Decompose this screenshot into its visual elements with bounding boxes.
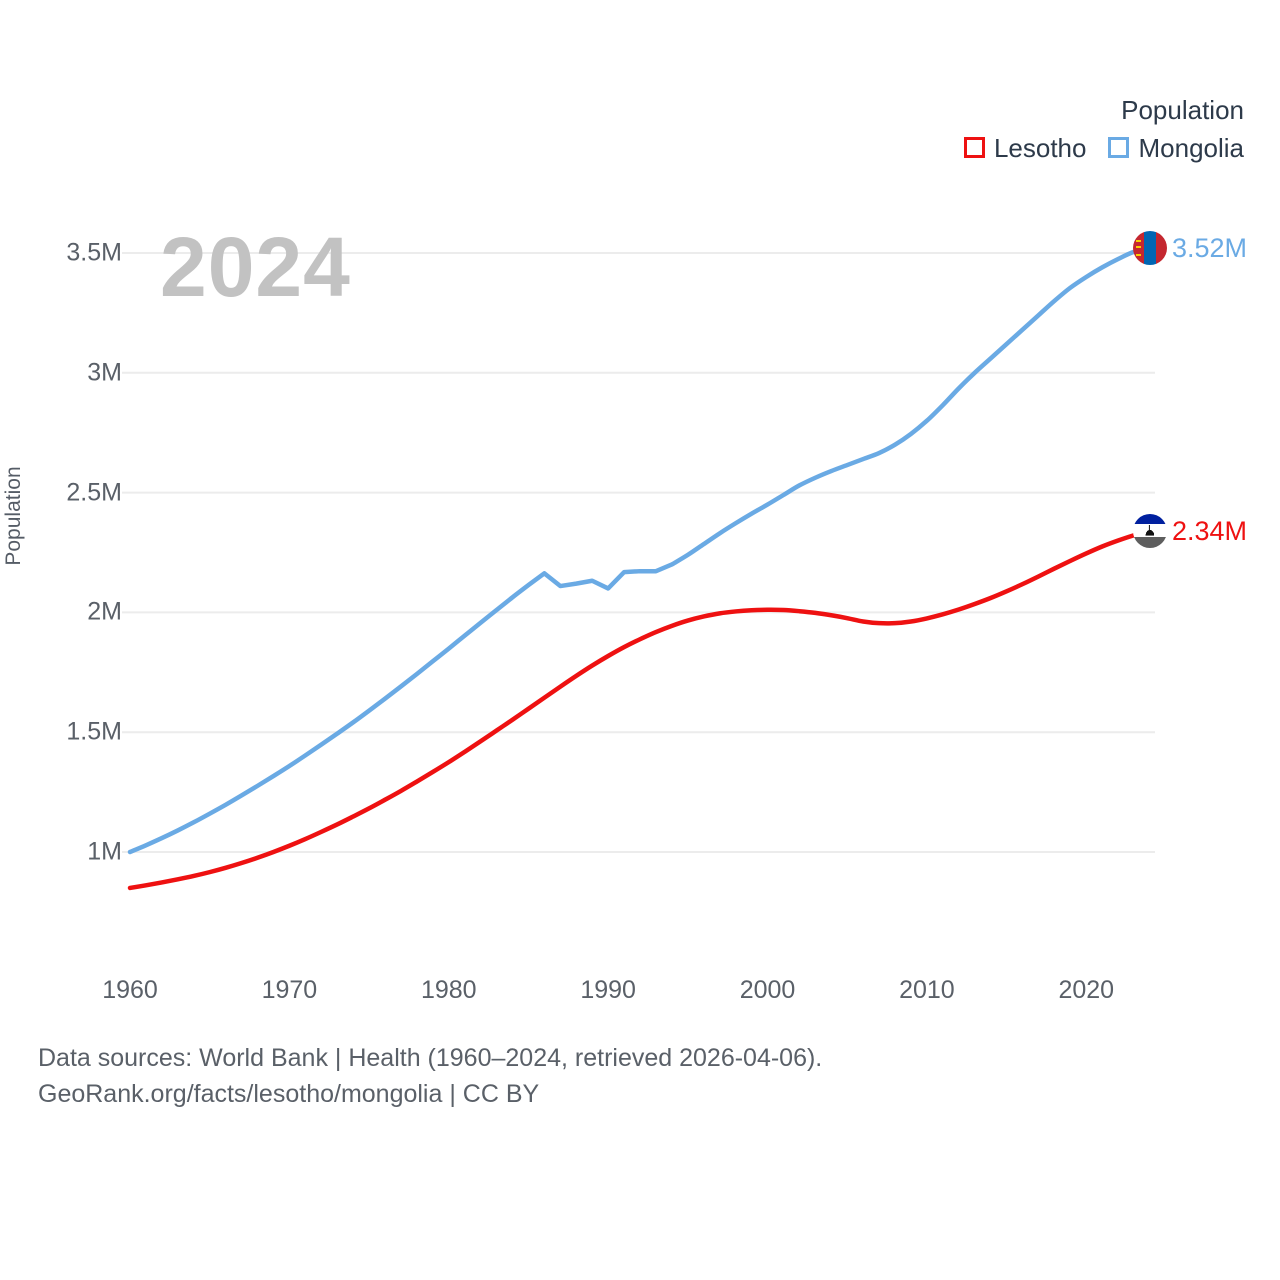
x-axis-tick-label: 1980 [421,976,477,1005]
y-axis-tick-label: 1.5M [66,718,122,747]
plot-canvas [0,0,1280,1030]
series-line-lesotho [130,531,1150,888]
y-axis-tick-label: 2M [87,598,122,627]
chart-footer: Data sources: World Bank | Health (1960–… [38,1040,1218,1113]
x-axis-tick-label: 2000 [740,976,796,1005]
x-axis-tick-label: 2010 [899,976,955,1005]
footer-data-sources: Data sources: World Bank | Health (1960–… [38,1040,1218,1076]
flag-band-right [1156,231,1167,265]
end-label-mongolia: 3.52M [1172,235,1247,262]
x-axis-tick-label: 2020 [1058,976,1114,1005]
population-line-chart: Population Lesotho Mongolia 2024 Populat… [0,0,1280,1280]
end-label-lesotho: 2.34M [1172,518,1247,545]
x-axis-tick-label: 1970 [262,976,318,1005]
plot-area: 2024 Population 1M1.5M2M2.5M3M3.5M 19601… [0,0,1280,1030]
mongolia-flag-icon [1133,231,1167,265]
y-axis-tick-label: 1M [87,838,122,867]
x-axis-tick-label: 1960 [102,976,158,1005]
y-axis-tick-label: 3M [87,358,122,387]
mokorotlo-hat-icon [1145,525,1155,535]
y-axis-tick-labels: 1M1.5M2M2.5M3M3.5M [0,0,122,1030]
lesotho-flag-icon [1133,514,1167,548]
y-axis-tick-label: 2.5M [66,478,122,507]
flag-stripe-bottom [1133,537,1167,548]
y-axis-tick-label: 3.5M [66,239,122,268]
flag-stripe-top [1133,514,1167,524]
gridlines [122,253,1155,852]
soyombo-symbol-icon [1136,240,1140,256]
footer-attribution: GeoRank.org/facts/lesotho/mongolia | CC … [38,1076,1218,1112]
x-axis-tick-label: 1990 [580,976,636,1005]
year-watermark: 2024 [160,225,351,309]
series-line-mongolia [130,248,1150,852]
flag-band-center [1144,231,1155,265]
